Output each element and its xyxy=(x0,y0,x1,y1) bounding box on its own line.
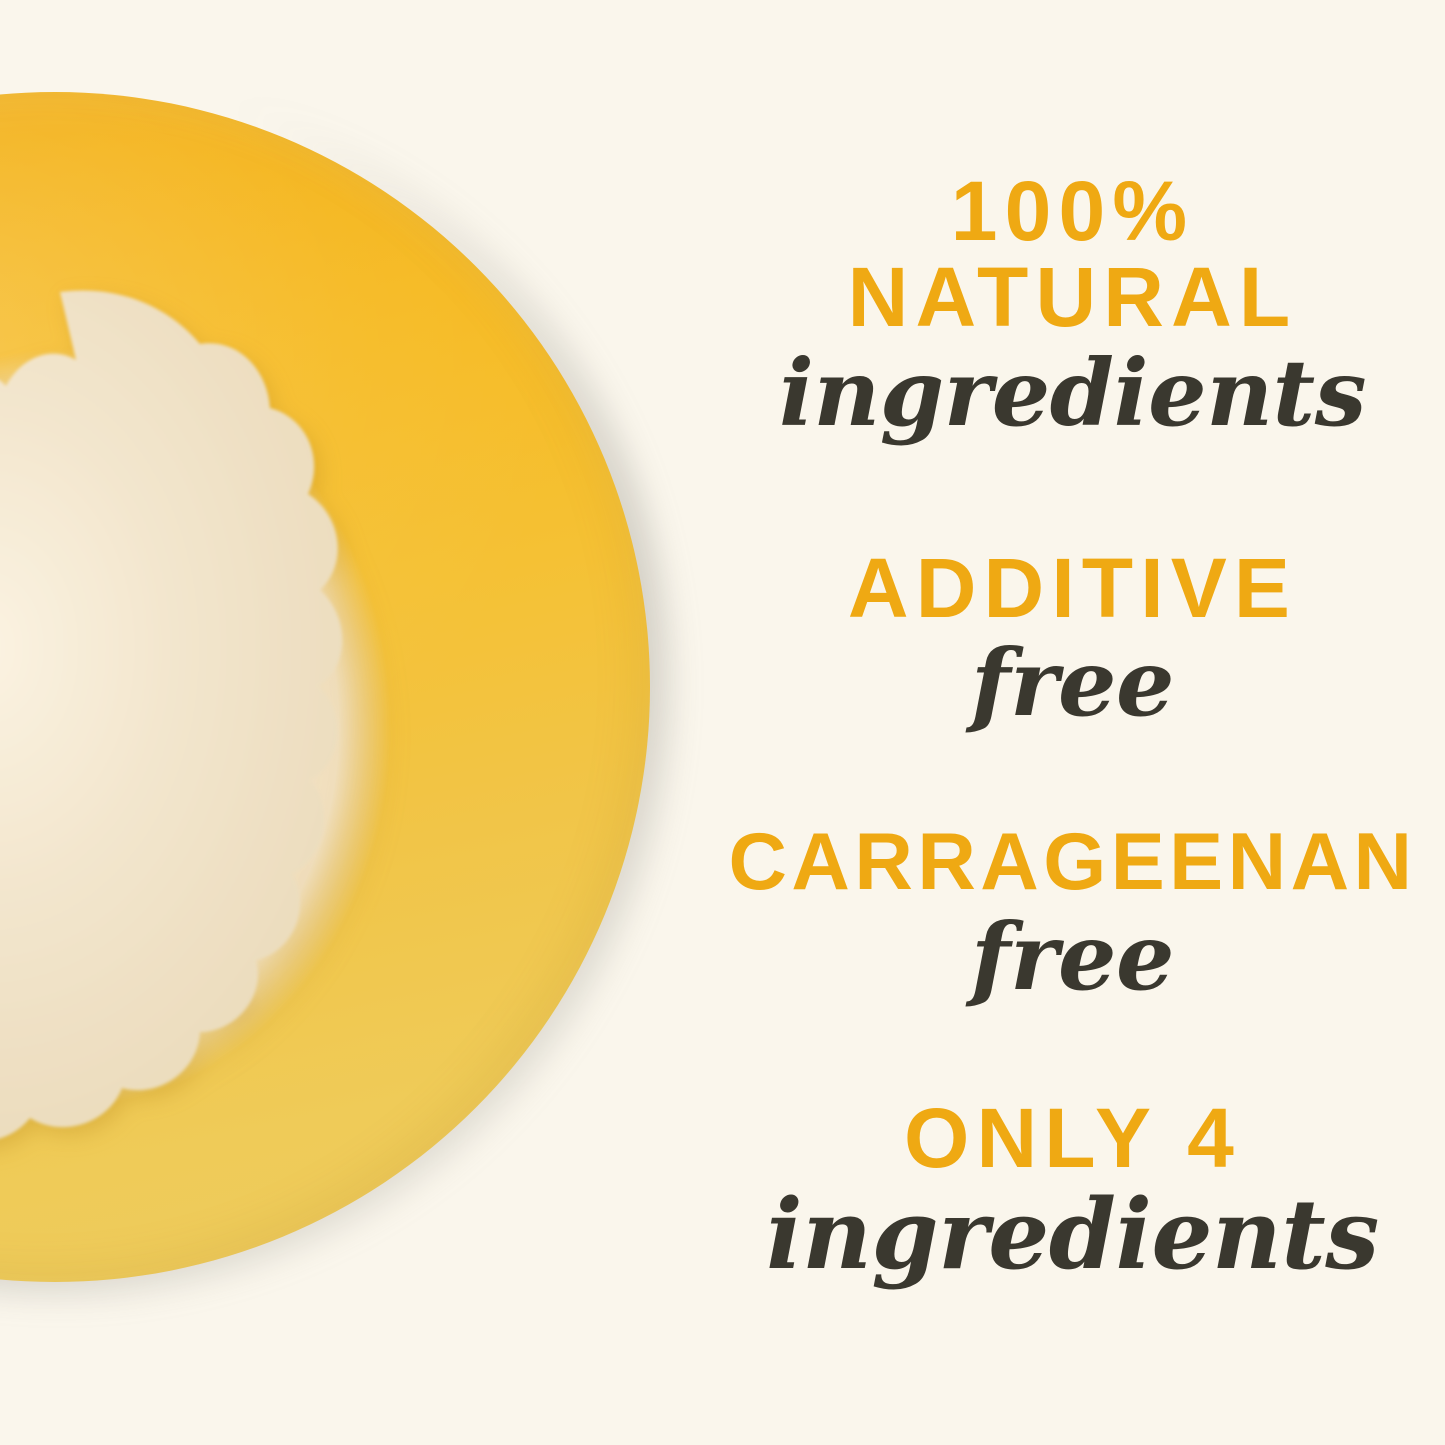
food-photo-panel xyxy=(0,0,700,1445)
claim-additive-free: ADDITIVE free xyxy=(700,545,1445,730)
claim-headline: ONLY 4 xyxy=(700,1095,1445,1182)
claim-headline: 100% NATURAL xyxy=(700,168,1445,341)
claim-headline: CARRAGEENAN xyxy=(700,821,1445,904)
claim-script: ingredients xyxy=(700,347,1445,439)
claim-natural-ingredients: 100% NATURAL ingredients xyxy=(700,168,1445,439)
claim-script: free xyxy=(700,911,1445,1003)
claims-column: 100% NATURAL ingredients ADDITIVE free C… xyxy=(700,0,1445,1445)
claim-carrageenan-free: CARRAGEENAN free xyxy=(700,821,1445,1002)
product-feature-graphic: 100% NATURAL ingredients ADDITIVE free C… xyxy=(0,0,1445,1445)
claim-script: ingredients xyxy=(700,1187,1445,1283)
claim-headline: ADDITIVE xyxy=(700,545,1445,632)
claim-script: free xyxy=(700,637,1445,729)
claim-only-4-ingredients: ONLY 4 ingredients xyxy=(700,1095,1445,1284)
food-irregular-edge xyxy=(0,268,460,1188)
food-portion xyxy=(0,268,460,1188)
